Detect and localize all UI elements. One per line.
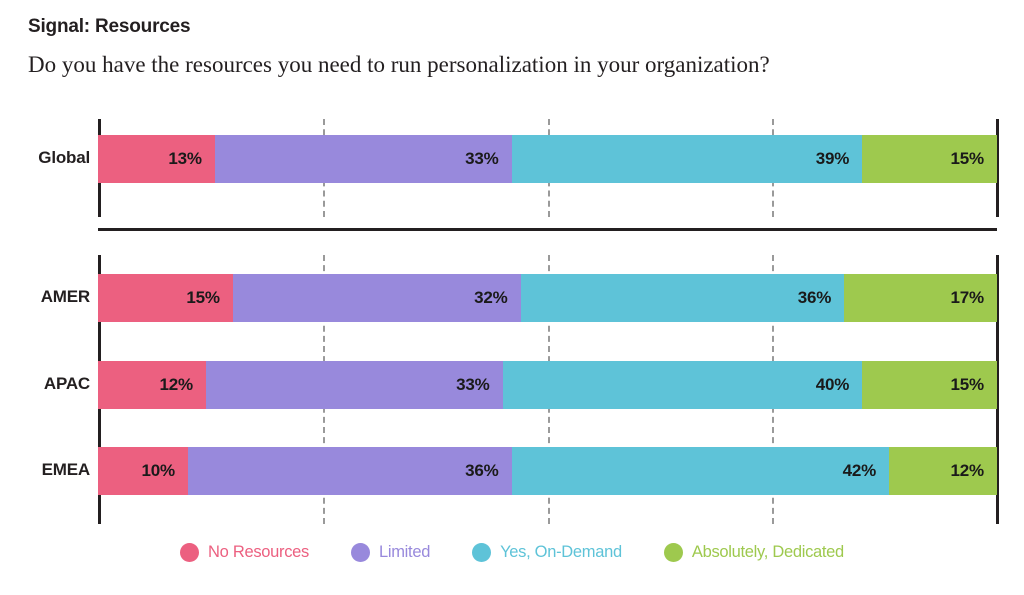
bar-segment[interactable]: 17% [844, 274, 997, 322]
bar-segment[interactable]: 33% [206, 361, 503, 409]
legend-dot-icon [351, 543, 370, 562]
legend-item[interactable]: No Resources [180, 543, 309, 562]
bar-segment-value: 10% [141, 461, 187, 481]
bar-segment[interactable]: 33% [215, 135, 512, 183]
bar-segment-value: 42% [843, 461, 889, 481]
legend-item[interactable]: Yes, On-Demand [472, 543, 622, 562]
bar-segment-value: 15% [186, 288, 232, 308]
bar-row-apac: 12%33%40%15% [98, 361, 997, 409]
bar-segment[interactable]: 32% [233, 274, 521, 322]
bar-segment[interactable]: 15% [862, 135, 997, 183]
bar-segment-value: 12% [159, 375, 205, 395]
bar-segment-value: 32% [474, 288, 520, 308]
bar-segment[interactable]: 12% [889, 447, 997, 495]
bar-segment[interactable]: 40% [503, 361, 863, 409]
bar-segment-value: 15% [951, 149, 997, 169]
legend-label: Absolutely, Dedicated [692, 543, 844, 562]
group-separator-line [98, 228, 997, 231]
bar-segment-value: 15% [951, 375, 997, 395]
bar-segment[interactable]: 36% [188, 447, 512, 495]
bar-segment-value: 33% [456, 375, 502, 395]
category-label-emea: EMEA [4, 460, 90, 480]
legend-dot-icon [472, 543, 491, 562]
legend-label: Limited [379, 543, 430, 562]
legend-dot-icon [180, 543, 199, 562]
bar-segment[interactable]: 36% [521, 274, 845, 322]
bar-segment-value: 17% [951, 288, 997, 308]
legend-label: No Resources [208, 543, 309, 562]
bar-segment[interactable]: 10% [98, 447, 188, 495]
bar-segment[interactable]: 42% [512, 447, 890, 495]
legend-item[interactable]: Absolutely, Dedicated [664, 543, 844, 562]
bar-segment[interactable]: 15% [98, 274, 233, 322]
category-label-amer: AMER [4, 287, 90, 307]
bar-segment-value: 39% [816, 149, 862, 169]
chart-legend: No ResourcesLimitedYes, On-DemandAbsolut… [0, 543, 1024, 562]
bar-segment-value: 40% [816, 375, 862, 395]
bar-segment-value: 36% [465, 461, 511, 481]
bar-row-emea: 10%36%42%12% [98, 447, 997, 495]
stacked-bar-chart: Global13%33%39%15%AMER15%32%36%17%APAC12… [0, 0, 1024, 595]
category-label-apac: APAC [4, 374, 90, 394]
bar-row-global: 13%33%39%15% [98, 135, 997, 183]
bar-segment-value: 36% [798, 288, 844, 308]
legend-label: Yes, On-Demand [500, 543, 622, 562]
bar-segment-value: 13% [168, 149, 214, 169]
bar-segment[interactable]: 39% [512, 135, 863, 183]
bar-row-amer: 15%32%36%17% [98, 274, 997, 322]
legend-dot-icon [664, 543, 683, 562]
legend-item[interactable]: Limited [351, 543, 430, 562]
category-label-global: Global [4, 148, 90, 168]
bar-segment[interactable]: 13% [98, 135, 215, 183]
bar-segment-value: 33% [465, 149, 511, 169]
bar-segment[interactable]: 12% [98, 361, 206, 409]
bar-segment[interactable]: 15% [862, 361, 997, 409]
bar-segment-value: 12% [951, 461, 997, 481]
